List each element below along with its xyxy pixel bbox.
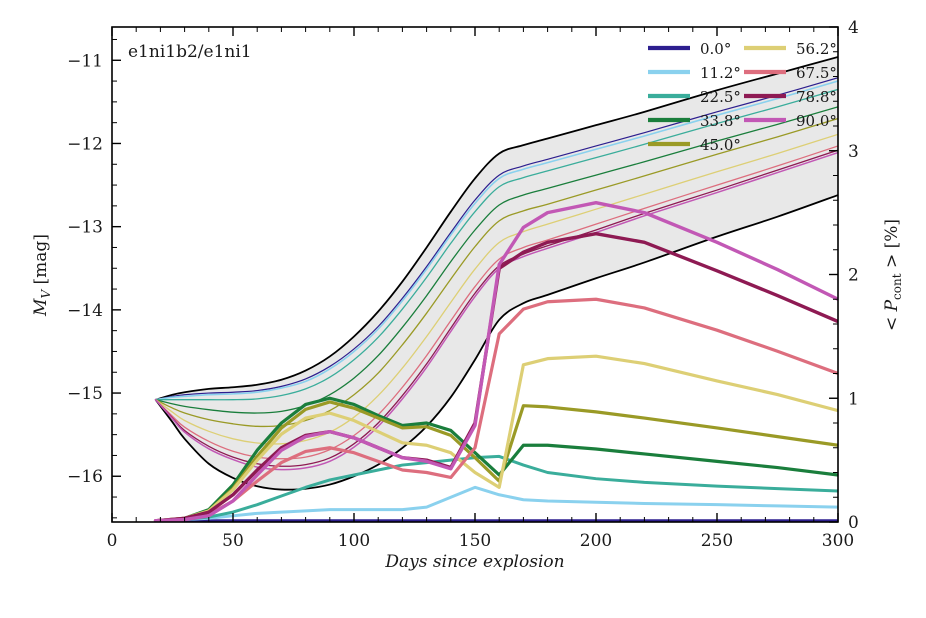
legend-label: 78.8° (796, 88, 837, 106)
y2-tick-label: 4 (848, 18, 859, 38)
legend-label: 45.0° (700, 136, 741, 154)
y-tick-label: −14 (67, 301, 103, 321)
x-axis-title: Days since explosion (384, 552, 564, 572)
plot-annotation: e1ni1b2/e1ni1 (128, 42, 252, 62)
legend-label: 67.5° (796, 64, 837, 82)
y2-tick-label: 1 (848, 389, 859, 409)
legend-label: 11.2° (700, 64, 741, 82)
x-tick-label: 300 (822, 531, 854, 551)
x-tick-label: 50 (222, 531, 244, 551)
figure-root: 050100150200250300−16−15−14−13−12−110123… (0, 0, 926, 618)
legend-label: 90.0° (796, 112, 837, 130)
legend-label: 33.8° (700, 112, 741, 130)
x-tick-label: 150 (459, 531, 491, 551)
y-tick-label: −12 (67, 134, 103, 154)
x-tick-label: 100 (338, 531, 370, 551)
legend-label: 56.2° (796, 40, 837, 58)
y-tick-label: −15 (67, 384, 103, 404)
x-tick-label: 200 (580, 531, 612, 551)
legend-label: 22.5° (700, 88, 741, 106)
x-tick-label: 0 (107, 531, 118, 551)
y-axis-title: MV [mag] (31, 234, 53, 317)
y2-tick-label: 3 (848, 142, 859, 162)
y-tick-label: −16 (67, 467, 103, 487)
y-tick-label: −13 (67, 218, 103, 238)
plot-svg: 050100150200250300−16−15−14−13−12−110123… (0, 0, 926, 618)
y2-tick-label: 0 (848, 513, 859, 533)
legend-label: 0.0° (700, 40, 731, 58)
y-axis-title-text: MV [mag] (31, 234, 53, 317)
x-tick-label: 250 (701, 531, 733, 551)
y2-tick-label: 2 (848, 266, 859, 286)
y-tick-label: −11 (67, 51, 103, 71)
